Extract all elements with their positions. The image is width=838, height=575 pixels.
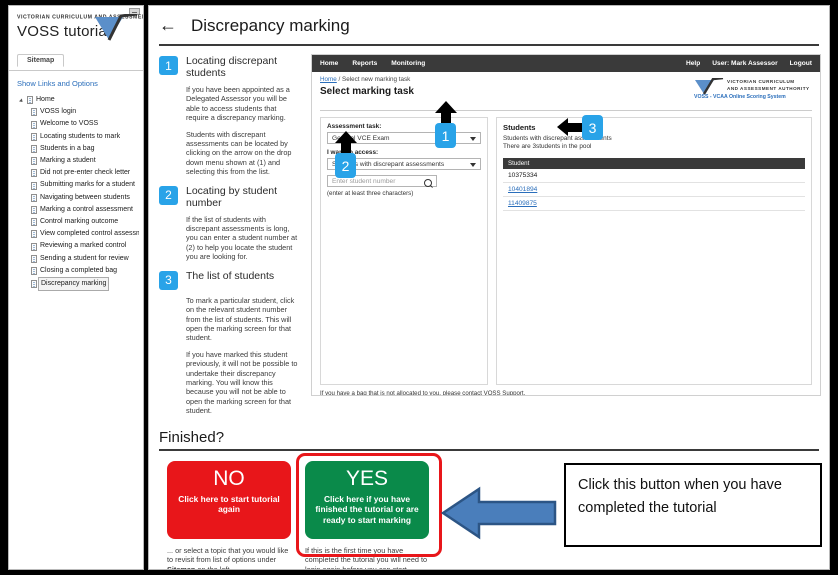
student-id-link[interactable]: 10401894: [508, 186, 537, 193]
yes-button[interactable]: YES Click here if you have finished the …: [305, 461, 429, 539]
main-panel: ← Discrepancy marking 1Locating discrepa…: [148, 5, 830, 570]
page-icon: [31, 243, 37, 251]
marker-3-arrow-stem: [568, 123, 582, 132]
breadcrumb-home-link[interactable]: Home: [320, 76, 337, 83]
nav-logout-link[interactable]: Logout: [790, 60, 812, 67]
tab-sitemap[interactable]: Sitemap: [17, 54, 64, 67]
chevron-down-icon: [470, 137, 476, 141]
page-icon: [31, 157, 37, 165]
page-icon: [31, 145, 37, 153]
no-caption-bold: Sitemap: [167, 565, 195, 570]
sitemap-item-home[interactable]: Home: [19, 94, 139, 106]
steps-column: 1Locating discrepant studentsIf you have…: [159, 54, 305, 423]
sidebar-body: Show Links and Options HomeVOSS loginWel…: [9, 71, 143, 295]
step-paragraph: If you have been appointed as a Delegate…: [186, 85, 301, 123]
app-page-header: Home / Select new marking task Select ma…: [312, 72, 820, 110]
sitemap-item-label: Marking a student: [40, 155, 96, 167]
finished-heading: Finished?: [159, 429, 829, 446]
step-title: Locating by student number: [186, 184, 301, 209]
sitemap-item-did-not-pre-enter-check-letter[interactable]: Did not pre-enter check letter: [31, 167, 139, 179]
yes-button-title: YES: [346, 467, 388, 491]
step-number-badge: 3: [159, 271, 178, 290]
nav-user-label: User: Mark Assessor: [712, 60, 777, 67]
sitemap-item-label: VOSS login: [40, 106, 76, 118]
no-button-caption: ... or select a topic that you would lik…: [167, 546, 291, 570]
sitemap-tree: HomeVOSS loginWelcome to VOSSLocating st…: [15, 94, 139, 291]
students-heading: Students: [503, 123, 805, 132]
page-icon: [31, 108, 37, 116]
no-button-title: NO: [213, 467, 245, 491]
callout-box: Click this button when you have complete…: [564, 463, 822, 547]
sitemap-item-label: Welcome to VOSS: [40, 118, 98, 130]
sitemap-item-label: Submitting marks for a student: [40, 179, 135, 191]
step-body: To mark a particular student, click on t…: [186, 296, 301, 416]
step-paragraph: To mark a particular student, click on t…: [186, 296, 301, 343]
sitemap-item-label: Locating students to mark: [40, 131, 120, 143]
sitemap-item-students-in-a-bag[interactable]: Students in a bag: [31, 143, 139, 155]
page-title: Discrepancy marking: [191, 16, 350, 36]
marker-1-arrow-head: [435, 101, 457, 113]
search-icon[interactable]: [424, 179, 432, 187]
step-paragraph: If the list of students with discrepant …: [186, 215, 301, 262]
sidebar-header: VICTORIAN CURRICULUM AND ASSESSMENT AUTH…: [9, 6, 143, 52]
no-caption-post: on the left: [195, 565, 229, 570]
step-paragraph: If you have marked this student previous…: [186, 350, 301, 416]
sitemap-item-locating-students-to-mark[interactable]: Locating students to mark: [31, 131, 139, 143]
sitemap-item-reviewing-a-marked-control[interactable]: Reviewing a marked control: [31, 240, 139, 252]
students-table: Student 103753341040189411409875: [503, 158, 805, 211]
show-links-and-options-link[interactable]: Show Links and Options: [17, 79, 139, 88]
page-icon: [31, 218, 37, 226]
marker-2-badge: 2: [335, 153, 356, 178]
sitemap-item-sending-a-student-for-review[interactable]: Sending a student for review: [31, 253, 139, 265]
logo-line-1: VICTORIAN CURRICULUM: [727, 79, 795, 84]
app-columns: Assessment task: General VCE Exam I want…: [312, 111, 820, 385]
marker-3-badge: 3: [582, 115, 603, 140]
yes-button-subtitle: Click here if you have finished the tuto…: [305, 494, 429, 526]
sitemap-item-label: Discrepancy marking: [38, 277, 109, 291]
breadcrumb-current: / Select new marking task: [339, 76, 411, 83]
students-column-header: Student: [503, 158, 805, 169]
sitemap-item-navigating-between-students[interactable]: Navigating between students: [31, 192, 139, 204]
app-navbar: Home Reports Monitoring Help User: Mark …: [312, 55, 820, 72]
step-title: Locating discrepant students: [186, 54, 301, 79]
finish-button-row: NO Click here to start tutorial again ..…: [149, 451, 829, 570]
no-column: NO Click here to start tutorial again ..…: [167, 461, 291, 570]
student-row[interactable]: 10401894: [503, 183, 805, 197]
embedded-screenshot: Home Reports Monitoring Help User: Mark …: [311, 54, 821, 396]
step-body: If the list of students with discrepant …: [186, 215, 301, 262]
vcaa-voss-logo: VICTORIAN CURRICULUM AND ASSESSMENT AUTH…: [694, 77, 812, 107]
marker-1-badge: 1: [435, 123, 456, 148]
step-2: 2Locating by student numberIf the list o…: [159, 184, 301, 262]
page-icon: [31, 182, 37, 190]
student-row[interactable]: 11409875: [503, 197, 805, 211]
step-header-3: 3The list of students: [159, 269, 301, 290]
sitemap-item-label: Home: [36, 94, 55, 106]
screenshot-root: VICTORIAN CURRICULUM AND ASSESSMENT AUTH…: [0, 0, 838, 575]
students-subtitle-2: There are 3students in the pool: [503, 143, 805, 151]
sitemap-item-label: Navigating between students: [40, 192, 130, 204]
page-icon: [27, 96, 33, 104]
step-3: 3The list of studentsTo mark a particula…: [159, 269, 301, 416]
assessment-task-label: Assessment task:: [327, 123, 481, 130]
sitemap-item-label: Marking a control assessment: [40, 204, 133, 216]
yes-button-caption: If this is the first time you have compl…: [305, 546, 429, 570]
sitemap-item-label: Closing a completed bag: [40, 265, 117, 277]
no-button-subtitle: Click here to start tutorial again: [167, 494, 291, 515]
sitemap-item-marking-a-student[interactable]: Marking a student: [31, 155, 139, 167]
callout-blue-arrow-icon: [441, 485, 557, 541]
back-arrow-icon[interactable]: ←: [159, 16, 177, 34]
sitemap-item-submitting-marks-for-a-student[interactable]: Submitting marks for a student: [31, 179, 139, 191]
sitemap-item-control-marking-outcome[interactable]: Control marking outcome: [31, 216, 139, 228]
nav-item-monitoring[interactable]: Monitoring: [391, 60, 425, 67]
content-row: 1Locating discrepant studentsIf you have…: [149, 46, 829, 423]
page-icon: [31, 230, 37, 238]
nav-item-reports[interactable]: Reports: [352, 60, 377, 67]
sitemap-item-label: Students in a bag: [40, 143, 95, 155]
sitemap-item-label: View completed control assessment: [40, 228, 139, 240]
marker-3-arrow-head: [557, 118, 568, 136]
sitemap-item-welcome-to-voss[interactable]: Welcome to VOSS: [31, 118, 139, 130]
nav-help-link[interactable]: Help: [686, 60, 700, 67]
logo-line-2: AND ASSESSMENT AUTHORITY: [727, 86, 810, 91]
students-subtitle-1: Students with discrepant assessments: [503, 135, 805, 143]
nav-item-home[interactable]: Home: [320, 60, 338, 67]
step-number-badge: 1: [159, 56, 178, 75]
sidebar-tabstrip: Sitemap: [9, 54, 143, 71]
support-note: If you have a bag that is not allocated …: [312, 385, 820, 396]
step-1: 1Locating discrepant studentsIf you have…: [159, 54, 301, 177]
page-icon: [31, 169, 37, 177]
step-number-badge: 2: [159, 186, 178, 205]
page-icon: [31, 194, 37, 202]
chevron-down-icon-2: [470, 163, 476, 167]
sitemap-item-label: Sending a student for review: [40, 253, 129, 265]
chevron-down-icon-tree[interactable]: [19, 97, 26, 104]
step-title: The list of students: [186, 269, 274, 290]
sitemap-item-discrepancy-marking[interactable]: Discrepancy marking: [31, 277, 139, 291]
no-button[interactable]: NO Click here to start tutorial again: [167, 461, 291, 539]
main-header: ← Discrepancy marking: [149, 6, 829, 42]
students-panel: Students Students with discrepant assess…: [496, 117, 812, 385]
sidebar-panel: VICTORIAN CURRICULUM AND ASSESSMENT AUTH…: [8, 5, 144, 570]
step-body: If you have been appointed as a Delegate…: [186, 85, 301, 177]
sitemap-item-label: Did not pre-enter check letter: [40, 167, 130, 179]
search-hint: (enter at least three characters): [327, 190, 481, 197]
page-icon: [31, 267, 37, 275]
page-icon: [31, 206, 37, 214]
student-id-text: 10375334: [508, 172, 537, 179]
no-caption-pre: ... or select a topic that you would lik…: [167, 546, 288, 565]
sitemap-item-label: Reviewing a marked control: [40, 240, 126, 252]
marker-2-arrow-head: [335, 131, 357, 143]
vcaa-logo-icon: [93, 14, 139, 44]
logo-line-3: VOSS - VCAA Online Scoring System: [694, 94, 786, 100]
sitemap-item-closing-a-completed-bag[interactable]: Closing a completed bag: [31, 265, 139, 277]
sitemap-item-view-completed-control-assessment[interactable]: View completed control assessment: [31, 228, 139, 240]
step-header-1: 1Locating discrepant students: [159, 54, 301, 79]
page-icon: [31, 133, 37, 141]
sitemap-item-marking-a-control-assessment[interactable]: Marking a control assessment: [31, 204, 139, 216]
sitemap-item-label: Control marking outcome: [40, 216, 118, 228]
sitemap-item-voss-login[interactable]: VOSS login: [31, 106, 139, 118]
student-row: 10375334: [503, 169, 805, 183]
student-number-placeholder: Enter student number: [332, 178, 395, 185]
page-icon: [31, 121, 37, 129]
yes-column: YES Click here if you have finished the …: [305, 461, 429, 570]
step-paragraph: Students with discrepant assessments can…: [186, 130, 301, 177]
page-icon: [31, 280, 37, 288]
step-header-2: 2Locating by student number: [159, 184, 301, 209]
student-id-link[interactable]: 11409875: [508, 200, 537, 207]
page-icon: [31, 255, 37, 263]
